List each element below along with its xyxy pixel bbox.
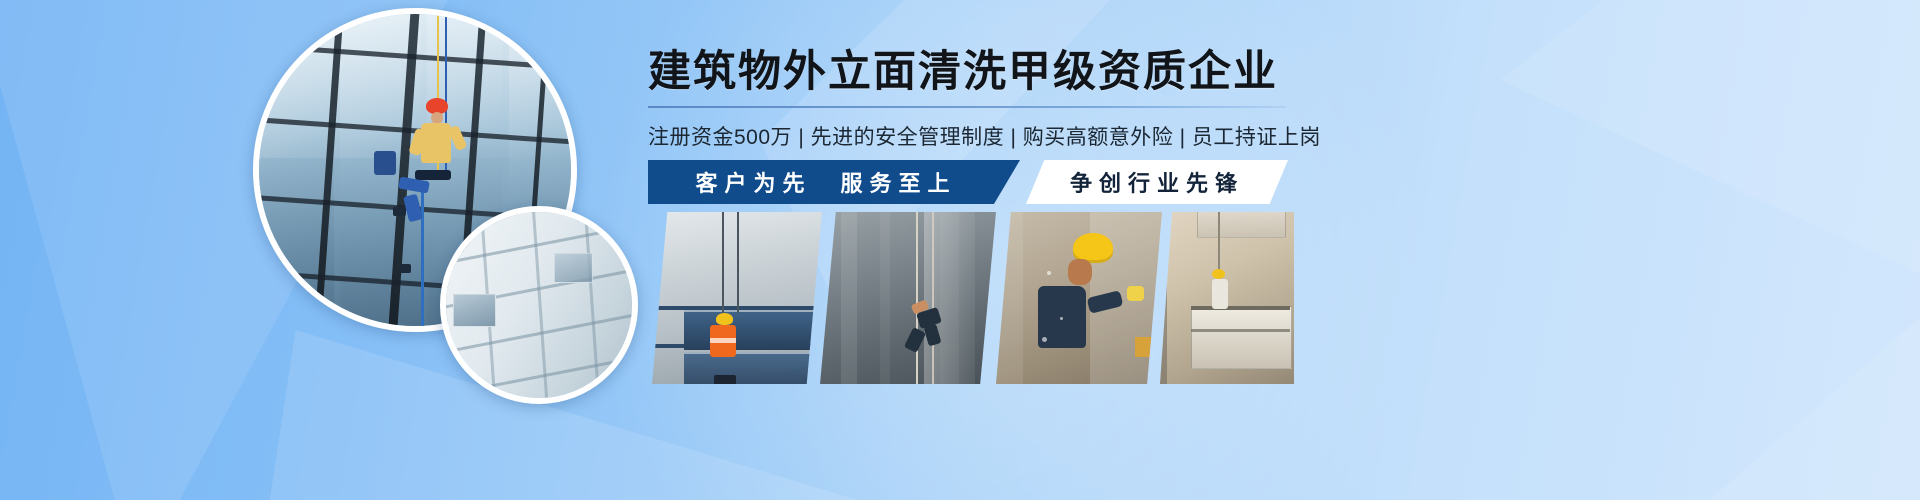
strip-photo-orange-vest-worker xyxy=(652,212,822,384)
banner-subtitle: 注册资金500万 | 先进的安全管理制度 | 购买高额意外险 | 员工持证上岗 xyxy=(648,121,1308,151)
photo-strip xyxy=(652,212,1292,384)
page-title: 建筑物外立面清洗甲级资质企业 xyxy=(648,48,1308,96)
slogan-secondary-tag: 争创行业先锋 xyxy=(1026,160,1288,204)
slogan-ribbon: 客户为先 服务至上 争创行业先锋 xyxy=(648,160,1288,204)
strip-photo-balcony-worker xyxy=(1160,212,1294,384)
slogan-primary-text: 客户为先 服务至上 xyxy=(695,166,972,198)
banner-copy: 建筑物外立面清洗甲级资质企业 注册资金500万 | 先进的安全管理制度 | 购买… xyxy=(648,48,1308,151)
circle-photo-white-facade xyxy=(440,206,638,404)
strip-photo-rope-access-concrete xyxy=(820,212,996,384)
slogan-secondary-text: 争创行业先锋 xyxy=(1070,166,1244,198)
background-triangle-4 xyxy=(1500,0,1920,320)
title-underline xyxy=(648,106,1286,108)
background-triangle-5 xyxy=(1640,300,1920,500)
promotional-banner: 建筑物外立面清洗甲级资质企业 注册资金500万 | 先进的安全管理制度 | 购买… xyxy=(0,0,1920,500)
strip-photo-plastering-worker xyxy=(996,212,1162,384)
slogan-primary-tag: 客户为先 服务至上 xyxy=(648,160,1020,204)
